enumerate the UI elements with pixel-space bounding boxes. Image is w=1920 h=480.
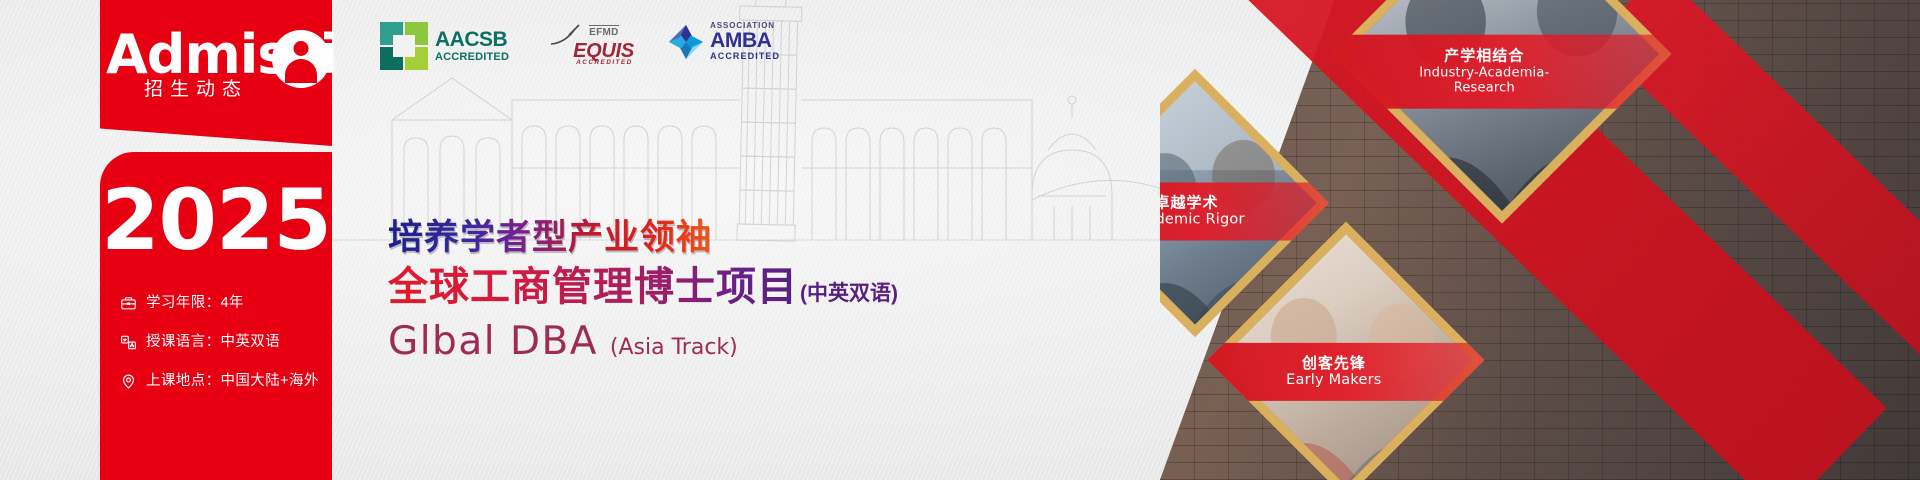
person-icon [272, 30, 330, 88]
accreditation-equis: EFMD EQUIS ACCREDITED [549, 22, 627, 68]
admission-banner: Admissi 招生动态 2025 学习年限：4年 [0, 0, 1920, 480]
aacsb-logo-icon [380, 22, 428, 70]
headline-tagline: 培养学者型产业领袖 [388, 218, 898, 257]
headline-title-en-row: Glbal DBA (Asia Track) [388, 319, 898, 364]
info-item-language-text: 授课语言：中英双语 [146, 335, 280, 350]
info-item-location: 上课地点：中国大陆+海外 [120, 373, 332, 390]
calendar-icon [120, 295, 137, 312]
admission-logo: Admissi 招生动态 [100, 28, 332, 116]
equis-status: ACCREDITED [576, 59, 633, 66]
accreditation-badges: AACSB ACCREDITED EFMD EQUIS ACCREDITED [380, 22, 780, 70]
info-item-language: 授课语言：中英双语 [120, 334, 332, 351]
equis-logo-icon: EFMD EQUIS ACCREDITED [549, 22, 627, 68]
efmd-label: EFMD [589, 25, 619, 38]
amba-logo-icon [667, 23, 705, 61]
headline-title-cn: 全球工商管理博士项目 [388, 265, 798, 309]
amba-status: ACCREDITED [710, 51, 780, 61]
amba-name: AMBA [710, 30, 780, 51]
headline-title-cn-note: (中英双语) [800, 277, 898, 307]
accreditation-amba: ASSOCIATION AMBA ACCREDITED [667, 22, 780, 62]
center-content: AACSB ACCREDITED EFMD EQUIS ACCREDITED [332, 0, 1172, 480]
aacsb-status: ACCREDITED [435, 51, 509, 63]
aacsb-text: AACSB ACCREDITED [435, 29, 509, 63]
accreditation-aacsb: AACSB ACCREDITED [380, 22, 509, 70]
headline-title-cn-row: 全球工商管理博士项目 (中英双语) [388, 265, 898, 309]
info-item-duration-text: 学习年限：4年 [146, 296, 244, 311]
amba-text: ASSOCIATION AMBA ACCREDITED [710, 22, 780, 62]
left-red-panel: Admissi 招生动态 2025 学习年限：4年 [100, 0, 332, 480]
info-item-duration: 学习年限：4年 [120, 295, 332, 312]
headline-title-en: Glbal DBA [388, 319, 598, 364]
photo-collage: 产学相结合 Industry-Academia- Research [1160, 0, 1920, 480]
year-label: 2025 [100, 178, 332, 262]
admission-logo-chinese: 招生动态 [144, 74, 248, 101]
headline-block: 培养学者型产业领袖 全球工商管理博士项目 (中英双语) Glbal DBA (A… [388, 218, 898, 364]
program-info-list: 学习年限：4年 授课语言：中英双语 [120, 295, 332, 412]
info-item-location-text: 上课地点：中国大陆+海外 [146, 374, 319, 389]
headline-title-en-note: (Asia Track) [610, 335, 738, 360]
aacsb-name: AACSB [435, 29, 509, 50]
language-icon [120, 334, 137, 351]
location-pin-icon [120, 373, 137, 390]
